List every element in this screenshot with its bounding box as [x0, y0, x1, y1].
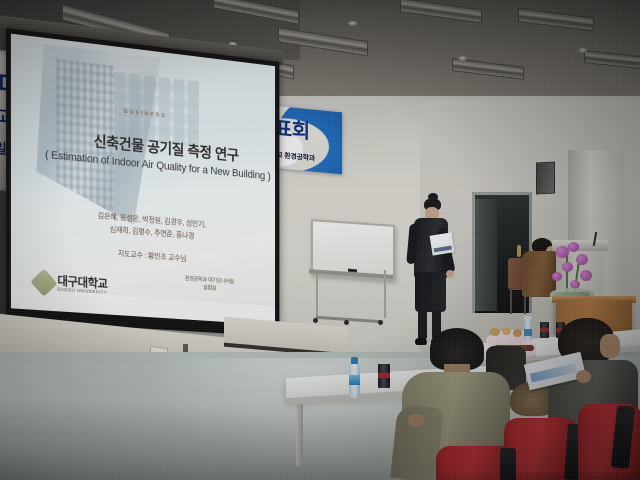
orchid-bloom: [556, 246, 569, 258]
ceiling-downlight: [348, 21, 357, 26]
whiteboard-caster: [313, 318, 318, 323]
logo-text: 대구대학교 DAEGU UNIVERSITY: [57, 276, 107, 295]
whiteboard-caster: [378, 320, 383, 325]
presenter-hand: [446, 270, 454, 278]
presenter: [404, 198, 460, 348]
door-handle[interactable]: [517, 245, 521, 257]
screen-border: business 신축건물 공기질 측정 연구 ( Estimation of …: [6, 28, 279, 337]
front-can-band: [378, 373, 390, 378]
slide-authors: 김은혜, 윤성운, 박정원, 김경우, 성민기, 심재희, 김명수, 주연준, …: [34, 203, 264, 248]
whiteboard-leg: [384, 270, 386, 318]
whiteboard-leg: [316, 274, 318, 320]
projection-screen: business 신축건물 공기질 측정 연구 ( Estimation of …: [6, 28, 279, 337]
front-beverage-can: [378, 364, 390, 388]
slide-advisor: 지도교수 : 황민조 교수님: [34, 241, 264, 270]
audience-hand: [408, 414, 424, 427]
reader-face: [600, 334, 620, 358]
seat-armrest: [500, 448, 516, 480]
orchid-bloom: [580, 270, 592, 281]
presenter-papers: [430, 232, 455, 255]
front-bottle-label: [349, 375, 360, 385]
lecture-hall-photo: 대 교 . 일(금) 발표회 표회 구대학교 환경공학과 business 신축…: [0, 0, 640, 480]
orchid-bloom: [552, 272, 562, 281]
orchid-bloom: [568, 242, 579, 252]
wall-speaker-icon: [536, 162, 555, 195]
door-panel: [475, 199, 497, 311]
presenter-skirt: [415, 272, 446, 312]
chair-leg: [510, 288, 512, 314]
orchid-bloom: [562, 262, 573, 272]
whiteboard-marker[interactable]: [348, 269, 357, 273]
presentation-slide: business 신축건물 공기질 측정 연구 ( Estimation of …: [11, 34, 275, 326]
reader-hand: [576, 370, 591, 383]
orchid-bloom: [576, 254, 588, 265]
ceiling-downlight: [458, 56, 467, 61]
university-logo: 대구대학교 DAEGU UNIVERSITY: [34, 272, 107, 297]
ceiling-downlight: [578, 48, 587, 53]
slide-lab-credit: 환경공학과 대기모니터링 실험실: [155, 273, 263, 296]
whiteboard-caster: [344, 320, 349, 325]
